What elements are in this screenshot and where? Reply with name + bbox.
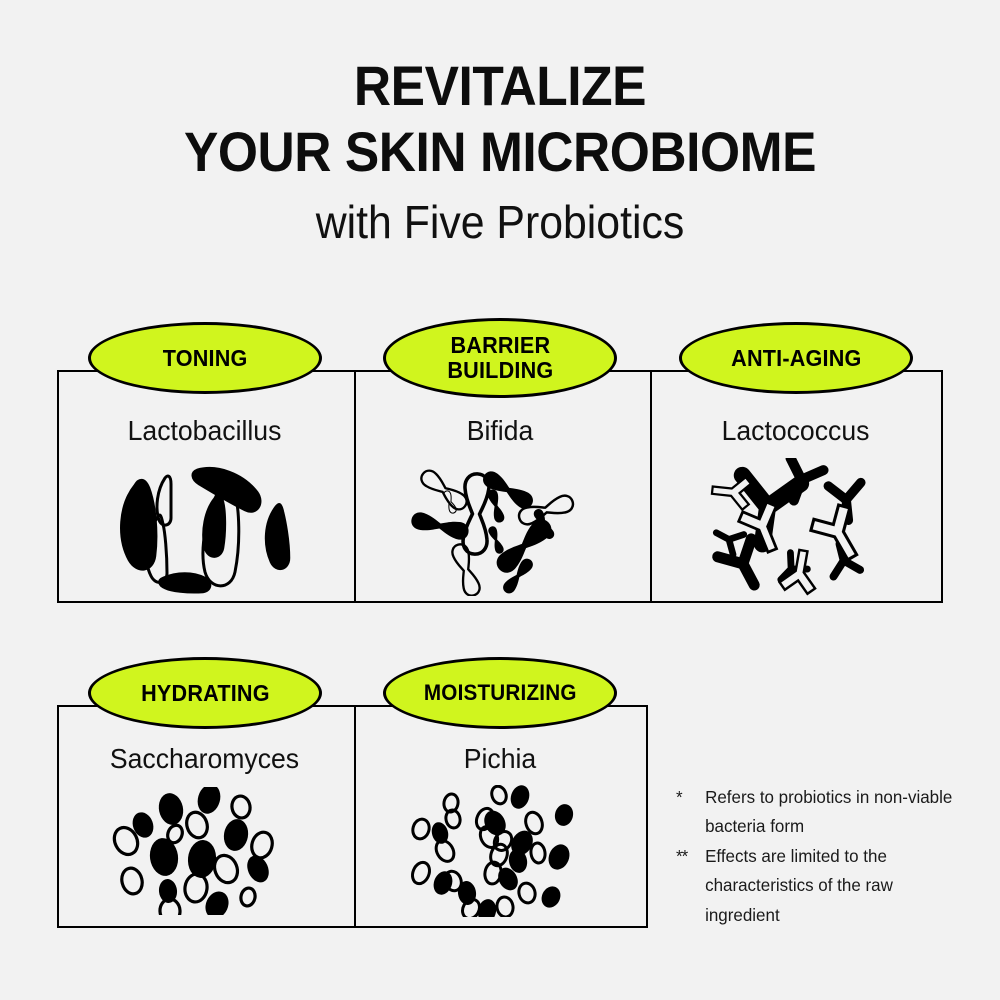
benefit-cell-moisturizing[interactable]: Pichia: [352, 705, 648, 928]
benefit-cell-toning[interactable]: Lactobacillus TONING: [57, 370, 352, 603]
benefit-cell-hydrating[interactable]: Saccharomyces: [57, 705, 352, 928]
dumbbell-bacteria-icon: [400, 458, 600, 596]
rod-bacteria-icon: [105, 460, 305, 595]
benefit-pill-label: MOISTURIZING: [424, 681, 577, 704]
branched-bacteria-icon: [696, 458, 896, 596]
infographic-root: REVITALIZE YOUR SKIN MICROBIOME with Fiv…: [0, 0, 1000, 1000]
benefit-pill-label: HYDRATING: [141, 681, 270, 705]
benefit-pill-anti-aging[interactable]: ANTI-AGING: [679, 322, 913, 394]
species-name-lactococcus: Lactococcus: [655, 415, 935, 447]
benefit-cell-barrier-building[interactable]: Bifida: [352, 370, 648, 603]
headline-subtitle: with Five Probiotics: [35, 198, 965, 246]
benefit-pill-label: BARRIER BUILDING: [447, 333, 553, 383]
species-name-saccharomyces: Saccharomyces: [64, 743, 344, 775]
footnote-marker: *: [676, 783, 701, 812]
footnote-double-asterisk: ** Effects are limited to the characteri…: [676, 842, 967, 930]
species-name-lactobacillus: Lactobacillus: [64, 415, 344, 447]
benefit-pill-barrier-building[interactable]: BARRIER BUILDING: [383, 318, 617, 398]
footnotes-block: * Refers to probiotics in non-viable bac…: [676, 783, 967, 930]
yeast-small-oval-icon: [407, 785, 597, 917]
benefit-pill-label: ANTI-AGING: [731, 346, 861, 370]
benefit-pill-moisturizing[interactable]: MOISTURIZING: [383, 657, 617, 729]
species-name-bifida: Bifida: [359, 415, 640, 447]
footnote-marker: **: [676, 842, 701, 871]
benefit-pill-label: TONING: [163, 346, 248, 370]
headline-line-1: REVITALIZE: [40, 58, 960, 114]
footnote-text: Refers to probiotics in non-viable bacte…: [705, 787, 952, 836]
benefit-pill-toning[interactable]: TONING: [88, 322, 322, 394]
footnote-text: Effects are limited to the characteristi…: [705, 846, 893, 925]
yeast-oval-icon: [112, 787, 298, 915]
benefit-cell-anti-aging[interactable]: Lactococcus: [648, 370, 943, 603]
benefit-pill-hydrating[interactable]: HYDRATING: [88, 657, 322, 729]
headline-line-2: YOUR SKIN MICROBIOME: [40, 124, 960, 180]
footnote-single-asterisk: * Refers to probiotics in non-viable bac…: [676, 783, 967, 842]
species-name-pichia: Pichia: [359, 743, 640, 775]
headline-block: REVITALIZE YOUR SKIN MICROBIOME with Fiv…: [0, 58, 1000, 246]
